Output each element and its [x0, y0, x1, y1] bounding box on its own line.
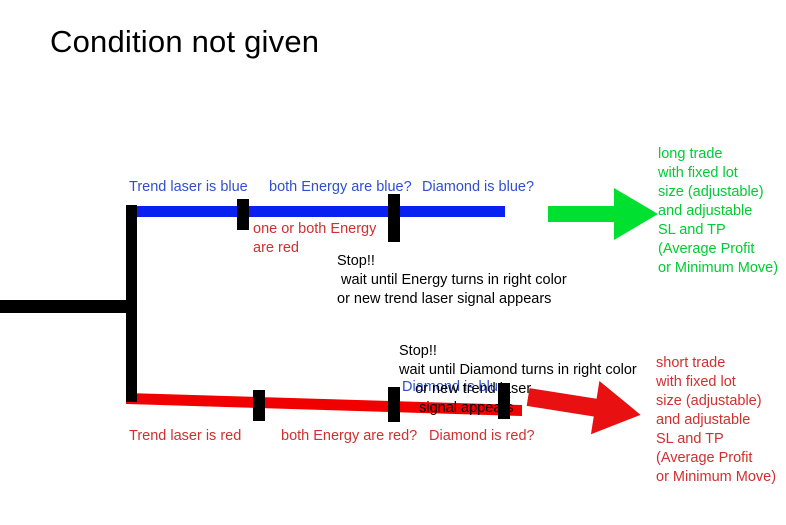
label-trend-laser-is-red: Trend laser is red [129, 427, 241, 445]
diagram-canvas: Condition not given Trend laser is blue … [0, 0, 786, 525]
label-trend-laser-is-blue: Trend laser is blue [129, 178, 248, 196]
outcome-short-trade: short trade with fixed lot size (adjusta… [656, 354, 776, 487]
green-long-trade-arrow [548, 186, 660, 242]
trunk-vertical-splitter [126, 205, 137, 402]
gate-bar-red-final [498, 383, 510, 419]
trunk-horizontal-bar [0, 300, 133, 313]
note-stop-diamond: Stop!! wait until Diamond turns in right… [399, 342, 637, 418]
label-both-energy-are-red: both Energy are red? [281, 427, 417, 445]
label-diamond-is-red: Diamond is red? [429, 427, 535, 445]
label-diamond-is-blue: Diamond is blue? [422, 178, 534, 196]
gate-bar-blue-diamond [388, 194, 400, 242]
note-stop-energy: Stop!! wait until Energy turns in right … [337, 252, 567, 309]
page-title: Condition not given [50, 24, 319, 60]
blue-trend-line [133, 206, 505, 217]
gate-bar-red-energy [253, 390, 265, 421]
outcome-long-trade: long trade with fixed lot size (adjustab… [658, 145, 778, 278]
gate-bar-blue-energy [237, 199, 249, 230]
